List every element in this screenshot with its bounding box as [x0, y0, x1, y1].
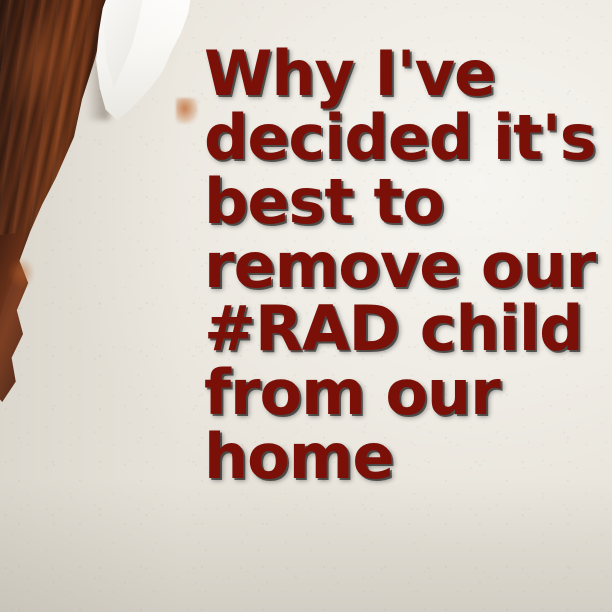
image-canvas: Why I've decided it's best to remove our… [0, 0, 612, 612]
headline-text: Why I've decided it's best to remove our… [204, 42, 608, 489]
